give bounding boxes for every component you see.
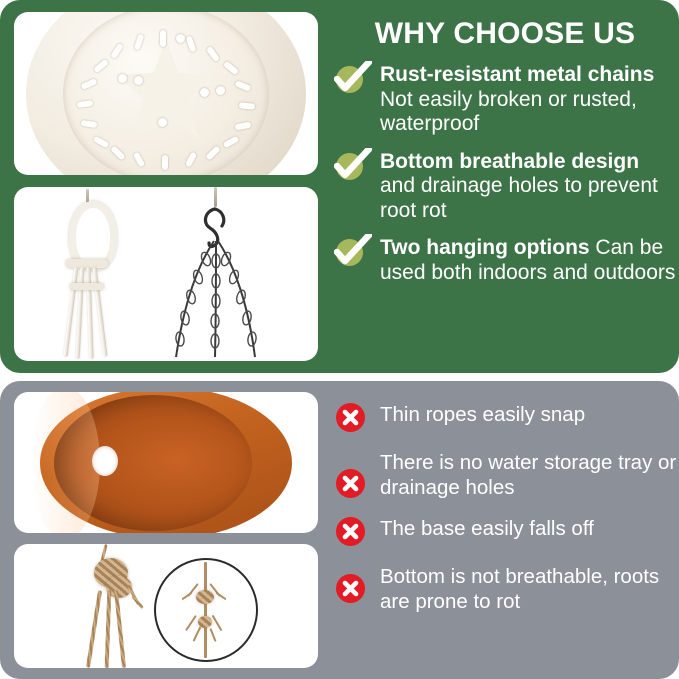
check-icon bbox=[334, 235, 374, 269]
broken-fiber bbox=[209, 628, 216, 642]
cons-bullet-text: Bottom is not breathable, roots are pron… bbox=[380, 562, 679, 614]
x-icon bbox=[334, 514, 374, 548]
chain-hanger-hook-stub bbox=[214, 187, 217, 207]
x-icon bbox=[334, 400, 374, 434]
magnified-rope-core bbox=[204, 562, 207, 658]
terracotta-pot-rim-highlight bbox=[30, 392, 100, 533]
x-mark-glyph bbox=[336, 469, 365, 498]
photo-pot-content bbox=[14, 392, 318, 533]
drain-hole bbox=[118, 74, 127, 83]
pros-bullet-text: Two hanging options Can be used both ind… bbox=[380, 235, 679, 285]
x-mark-glyph bbox=[336, 403, 365, 432]
drain-hole bbox=[158, 118, 167, 127]
rope-hanger-strand bbox=[76, 267, 85, 359]
cons-bullet-list: Thin ropes easily snap There is no water… bbox=[334, 400, 679, 628]
why-choose-us-panel: WHY CHOOSE US Rust-resistant metal chain… bbox=[0, 0, 679, 373]
drain-hole bbox=[176, 34, 185, 43]
check-mark-glyph bbox=[334, 234, 372, 266]
pros-bullet-text: Bottom breathable design and drainage ho… bbox=[380, 149, 679, 224]
pros-bullet-text: Rust-resistant metal chains Not easily b… bbox=[380, 62, 679, 137]
photo-hangers-content bbox=[14, 187, 318, 361]
white-planter-drainage-base-photo bbox=[14, 12, 318, 175]
x-mark-glyph bbox=[336, 574, 365, 603]
x-mark-glyph bbox=[336, 517, 365, 546]
pros-bullet-rest: Not easily broken or rusted, waterproof bbox=[380, 88, 637, 136]
broken-fiber bbox=[212, 615, 223, 632]
pros-bullet-item: Rust-resistant metal chains Not easily b… bbox=[334, 62, 679, 137]
cons-bullet-item: The base easily falls off bbox=[334, 514, 679, 548]
pros-bullet-item: Two hanging options Can be used both ind… bbox=[334, 235, 679, 285]
pros-bullet-bold: Rust-resistant metal chains bbox=[380, 63, 654, 86]
pros-bullet-bold: Bottom breathable design bbox=[380, 150, 639, 173]
drain-hole bbox=[216, 86, 225, 95]
photo-rope-content bbox=[14, 544, 318, 668]
cons-bullet-text: The base easily falls off bbox=[380, 514, 679, 542]
two-hanging-options-photo bbox=[14, 187, 318, 361]
rope-leg bbox=[105, 590, 112, 668]
rope-leg bbox=[86, 590, 102, 668]
rope-hanger-strand bbox=[86, 267, 93, 359]
pros-bullet-bold: Two hanging options bbox=[380, 236, 590, 259]
infographic-page: WHY CHOOSE US Rust-resistant metal chain… bbox=[0, 0, 679, 679]
page-title: WHY CHOOSE US bbox=[340, 18, 670, 50]
x-icon bbox=[334, 457, 374, 491]
cons-bullet-item: Thin ropes easily snap bbox=[334, 400, 679, 434]
drawbacks-panel: Thin ropes easily snap There is no water… bbox=[0, 381, 679, 679]
cons-bullet-item: Bottom is not breathable, roots are pron… bbox=[334, 562, 679, 614]
fiber-cluster bbox=[196, 590, 214, 604]
check-icon bbox=[334, 62, 374, 96]
terracotta-pot-single-hole-photo bbox=[14, 392, 318, 533]
drain-hole bbox=[200, 88, 209, 97]
cons-bullet-text: Thin ropes easily snap bbox=[380, 400, 679, 428]
photo-base-content bbox=[14, 12, 318, 175]
rope-frayed-end bbox=[131, 595, 144, 609]
drain-slot bbox=[160, 30, 166, 47]
check-icon bbox=[334, 149, 374, 183]
hanging-chains-icon bbox=[154, 239, 284, 361]
broken-fiber bbox=[185, 615, 197, 631]
pros-bullet-item: Bottom breathable design and drainage ho… bbox=[334, 149, 679, 224]
check-mark-glyph bbox=[334, 148, 372, 180]
single-drainage-hole bbox=[92, 446, 118, 476]
broken-fiber bbox=[182, 592, 193, 601]
rope-hanger-strand bbox=[93, 267, 108, 357]
cons-bullet-text: There is no water storage tray or draina… bbox=[380, 448, 679, 500]
rope-leg bbox=[114, 590, 126, 668]
cons-bullet-item: There is no water storage tray or draina… bbox=[334, 448, 679, 500]
frayed-rope-magnified-photo bbox=[14, 544, 318, 668]
rope-hanger-band bbox=[70, 283, 104, 290]
check-mark-glyph bbox=[334, 61, 372, 93]
broken-fiber bbox=[216, 592, 227, 601]
drain-slot bbox=[162, 155, 168, 170]
pros-bullet-rest: and drainage holes to prevent root rot bbox=[380, 174, 658, 222]
drain-hole bbox=[134, 76, 143, 85]
fiber-cluster bbox=[198, 616, 212, 628]
pros-bullet-list: Rust-resistant metal chains Not easily b… bbox=[334, 62, 679, 298]
x-icon bbox=[334, 562, 374, 596]
magnifier-circle bbox=[154, 558, 258, 662]
broken-fiber bbox=[193, 626, 202, 641]
